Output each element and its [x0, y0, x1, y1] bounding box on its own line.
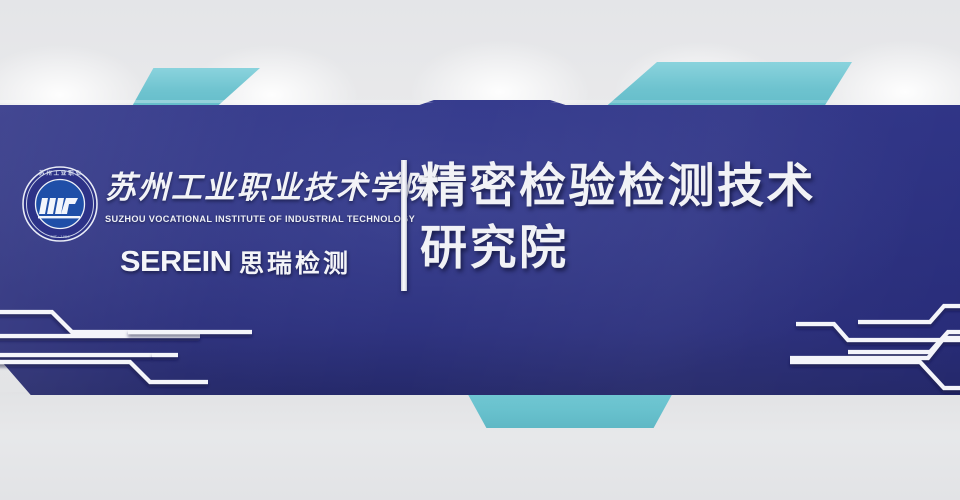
institute-headline: 精密检验检测技术 研究院 — [420, 156, 950, 280]
partner-wordmark: SEREIN 思瑞检测 — [120, 240, 351, 284]
brand-lockup: 苏 州 工 业 职 业 SIIT · 1956 苏州工业职业技术学院 SUZHO… — [12, 158, 390, 293]
headline-line-2: 研究院 — [420, 218, 950, 280]
svg-text:SIIT · 1956: SIIT · 1956 — [50, 235, 70, 239]
university-name-en: SUZHOU VOCATIONAL INSTITUTE OF INDUSTRIA… — [105, 214, 405, 224]
serein-latin-wordmark: SEREIN — [120, 246, 231, 279]
university-name-cn: 苏州工业职业技术学院 — [105, 163, 393, 213]
vertical-divider-bar — [401, 160, 407, 291]
signage-photo: 苏 州 工 业 职 业 SIIT · 1956 苏州工业职业技术学院 SUZHO… — [0, 0, 960, 500]
svg-text:苏 州 工 业 职 业: 苏 州 工 业 职 业 — [39, 169, 81, 177]
headline-line-1: 精密检验检测技术 — [420, 159, 816, 214]
serein-chinese-wordmark: 思瑞检测 — [239, 244, 351, 280]
suzhou-institute-emblem-icon: 苏 州 工 业 职 业 SIIT · 1956 — [20, 164, 100, 244]
